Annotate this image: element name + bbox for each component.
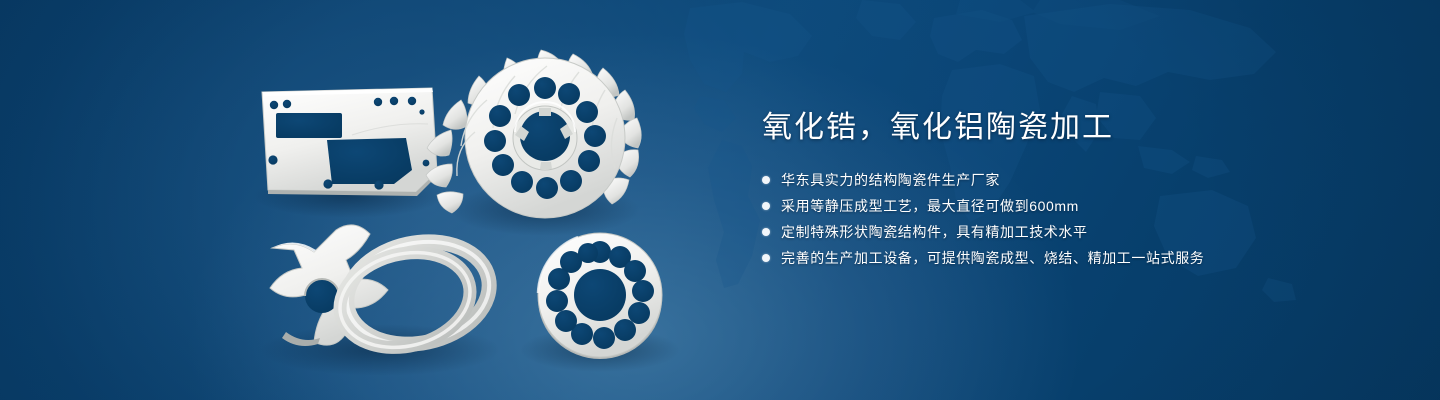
list-item: 华东具实力的结构陶瓷件生产厂家	[762, 168, 1402, 191]
feature-text: 华东具实力的结构陶瓷件生产厂家	[781, 170, 1000, 190]
feature-text: 定制特殊形状陶瓷结构件，具有精加工技术水平	[781, 222, 1088, 242]
feature-text: 完善的生产加工设备，可提供陶瓷成型、烧结、精加工一站式服务	[781, 248, 1204, 268]
bullet-dot-icon	[762, 202, 770, 210]
feature-list: 华东具实力的结构陶瓷件生产厂家 采用等静压成型工艺，最大直径可做到600mm 定…	[762, 168, 1402, 269]
list-item: 完善的生产加工设备，可提供陶瓷成型、烧结、精加工一站式服务	[762, 246, 1402, 269]
product-hero-banner: 氧化锆，氧化铝陶瓷加工 华东具实力的结构陶瓷件生产厂家 采用等静压成型工艺，最大…	[0, 0, 1440, 400]
ceramic-products-image	[0, 0, 720, 400]
ceramic-perforated-disc	[538, 233, 662, 359]
page-title: 氧化锆，氧化铝陶瓷加工	[762, 108, 1402, 148]
ceramic-plate-with-cutouts	[262, 88, 437, 196]
banner-copy: 氧化锆，氧化铝陶瓷加工 华东具实力的结构陶瓷件生产厂家 采用等静压成型工艺，最大…	[762, 108, 1402, 272]
list-item: 采用等静压成型工艺，最大直径可做到600mm	[762, 194, 1402, 217]
bullet-dot-icon	[762, 254, 770, 262]
bullet-dot-icon	[762, 176, 770, 184]
list-item: 定制特殊形状陶瓷结构件，具有精加工技术水平	[762, 220, 1402, 243]
ceramic-impeller-disc	[426, 50, 641, 218]
bullet-dot-icon	[762, 228, 770, 236]
feature-text: 采用等静压成型工艺，最大直径可做到600mm	[781, 196, 1079, 216]
